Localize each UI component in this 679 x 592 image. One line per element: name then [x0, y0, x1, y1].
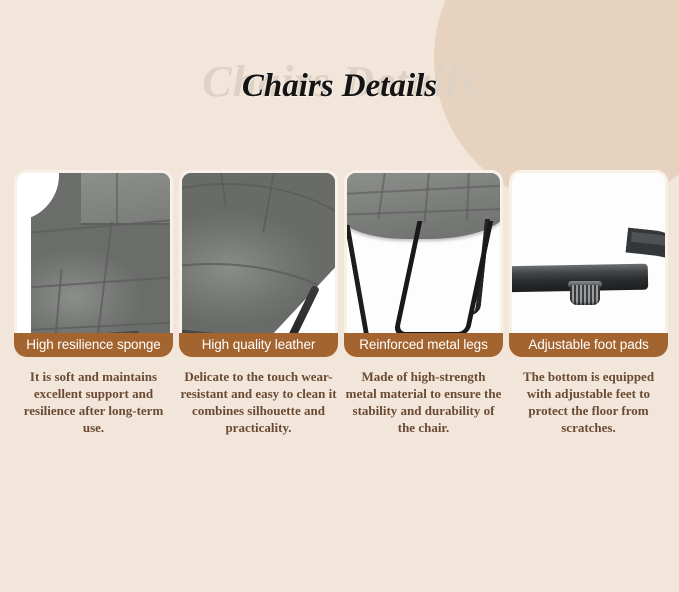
feature-panel: Reinforced metal legs Made of high-stren…	[344, 170, 503, 436]
feature-panel: High resilience sponge It is soft and ma…	[14, 170, 173, 436]
photo-inner	[512, 173, 665, 343]
photo-inner	[17, 173, 170, 343]
panel-caption: Delicate to the touch wear-resistant and…	[179, 368, 338, 436]
feature-panel: Adjustable foot pads The bottom is equip…	[509, 170, 668, 436]
gray-leather-tufting-closeup-photo	[179, 170, 338, 346]
panel-caption: The bottom is equipped with adjustable f…	[509, 368, 668, 436]
panel-label: Adjustable foot pads	[509, 333, 668, 357]
photo-inner	[347, 173, 500, 343]
panel-label: High quality leather	[179, 333, 338, 357]
tuft-seam	[347, 185, 500, 196]
seat-back-region	[81, 173, 170, 225]
panel-caption: Made of high-strength metal material to …	[344, 368, 503, 436]
black-sled-metal-legs-photo	[344, 170, 503, 346]
adjustable-foot-pad	[570, 285, 600, 305]
feature-panel: High quality leather Delicate to the tou…	[179, 170, 338, 436]
page-title: Chairs Details Chairs Details	[0, 62, 679, 118]
photo-inner	[182, 173, 335, 343]
panel-caption: It is soft and maintains excellent suppo…	[14, 368, 173, 436]
page-title-text: Chairs Details	[0, 68, 679, 105]
infographic-canvas: Chairs Details Chairs Details High resil…	[0, 0, 679, 592]
tuft-seam	[466, 173, 470, 221]
panel-label: Reinforced metal legs	[344, 333, 503, 357]
adjustable-foot-pad-closeup-photo	[509, 170, 668, 346]
tuft-seam	[423, 173, 430, 223]
feature-panel-row: High resilience sponge It is soft and ma…	[14, 170, 670, 436]
panel-label: High resilience sponge	[14, 333, 173, 357]
tufted-sponge-seat-closeup-photo	[14, 170, 173, 346]
